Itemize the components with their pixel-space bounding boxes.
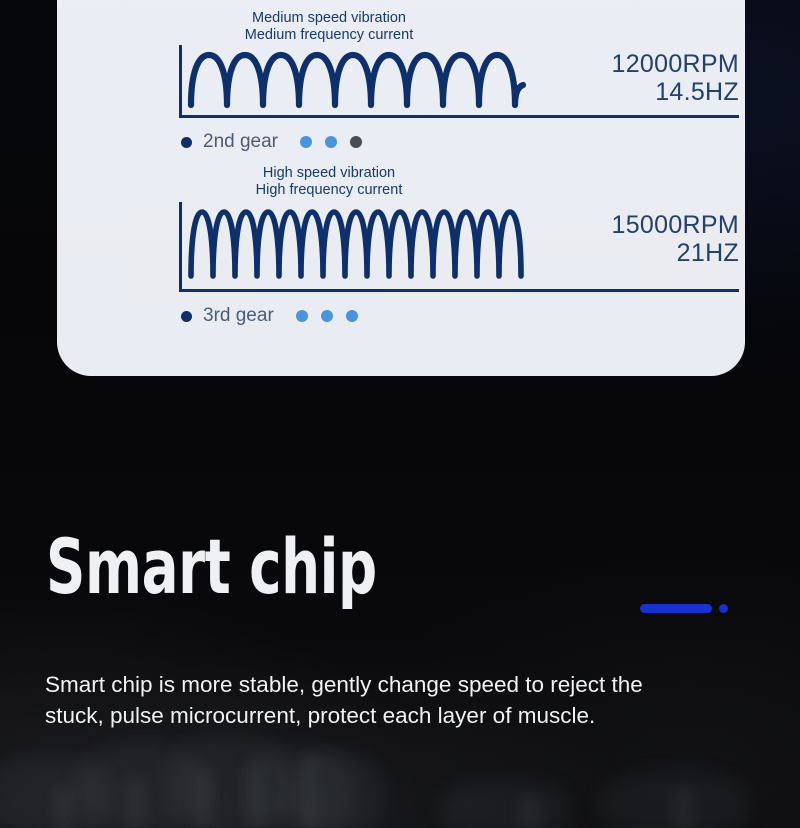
medium-label-line2: Medium frequency current	[179, 27, 479, 44]
medium-readout: 12000RPM 14.5HZ	[477, 50, 739, 106]
high-label-line2: High frequency current	[179, 182, 479, 199]
medium-hz-value: 14.5HZ	[477, 78, 739, 106]
equipment-post	[672, 788, 694, 828]
gear-bullet-icon	[181, 137, 192, 148]
feature-heading: Smart chip	[46, 529, 377, 605]
equipment-silhouette	[286, 752, 382, 828]
equipment-silhouette	[440, 780, 570, 828]
high-axis-x	[179, 289, 739, 292]
gear-section-medium: Medium speed vibration Medium frequency …	[57, 0, 745, 148]
high-rpm-value: 15000RPM	[477, 211, 739, 239]
equipment-post	[302, 756, 317, 828]
medium-labels: Medium speed vibration Medium frequency …	[179, 10, 479, 44]
gear-level-dots-2nd	[300, 136, 362, 148]
gear-level-dot[interactable]	[325, 136, 337, 148]
feature-paragraph: Smart chip is more stable, gently change…	[45, 670, 705, 731]
accent-indicator	[640, 604, 728, 613]
medium-axis-y	[179, 45, 182, 118]
medium-rpm-value: 12000RPM	[477, 50, 739, 78]
gear-section-high: High speed vibration High frequency curr…	[57, 155, 745, 323]
high-label-line1: High speed vibration	[179, 165, 479, 182]
spec-card: Medium speed vibration Medium frequency …	[57, 0, 745, 376]
gear-level-dot[interactable]	[350, 136, 362, 148]
gear-level-dot[interactable]	[300, 136, 312, 148]
equipment-post	[126, 778, 144, 828]
gear-bullet-icon	[181, 311, 192, 322]
high-axis-y	[179, 202, 182, 292]
gear-label-2nd: 2nd gear	[203, 131, 278, 153]
equipment-post	[520, 796, 540, 828]
gear-level-dot[interactable]	[296, 310, 308, 322]
medium-label-line1: Medium speed vibration	[179, 10, 479, 27]
gear-row-2nd[interactable]: 2nd gear	[181, 131, 362, 153]
high-readout: 15000RPM 21HZ	[477, 211, 739, 267]
accent-dot-icon	[719, 604, 728, 613]
medium-axis-x	[179, 115, 739, 118]
accent-bar	[640, 604, 712, 613]
high-hz-value: 21HZ	[477, 239, 739, 267]
equipment-post	[196, 768, 213, 828]
gear-label-3rd: 3rd gear	[203, 305, 274, 327]
gear-level-dot[interactable]	[346, 310, 358, 322]
gear-row-3rd[interactable]: 3rd gear	[181, 305, 358, 327]
high-labels: High speed vibration High frequency curr…	[179, 165, 479, 199]
equipment-post	[248, 760, 262, 828]
equipment-post	[56, 786, 72, 828]
gear-level-dots-3rd	[296, 310, 358, 322]
gear-level-dot[interactable]	[321, 310, 333, 322]
